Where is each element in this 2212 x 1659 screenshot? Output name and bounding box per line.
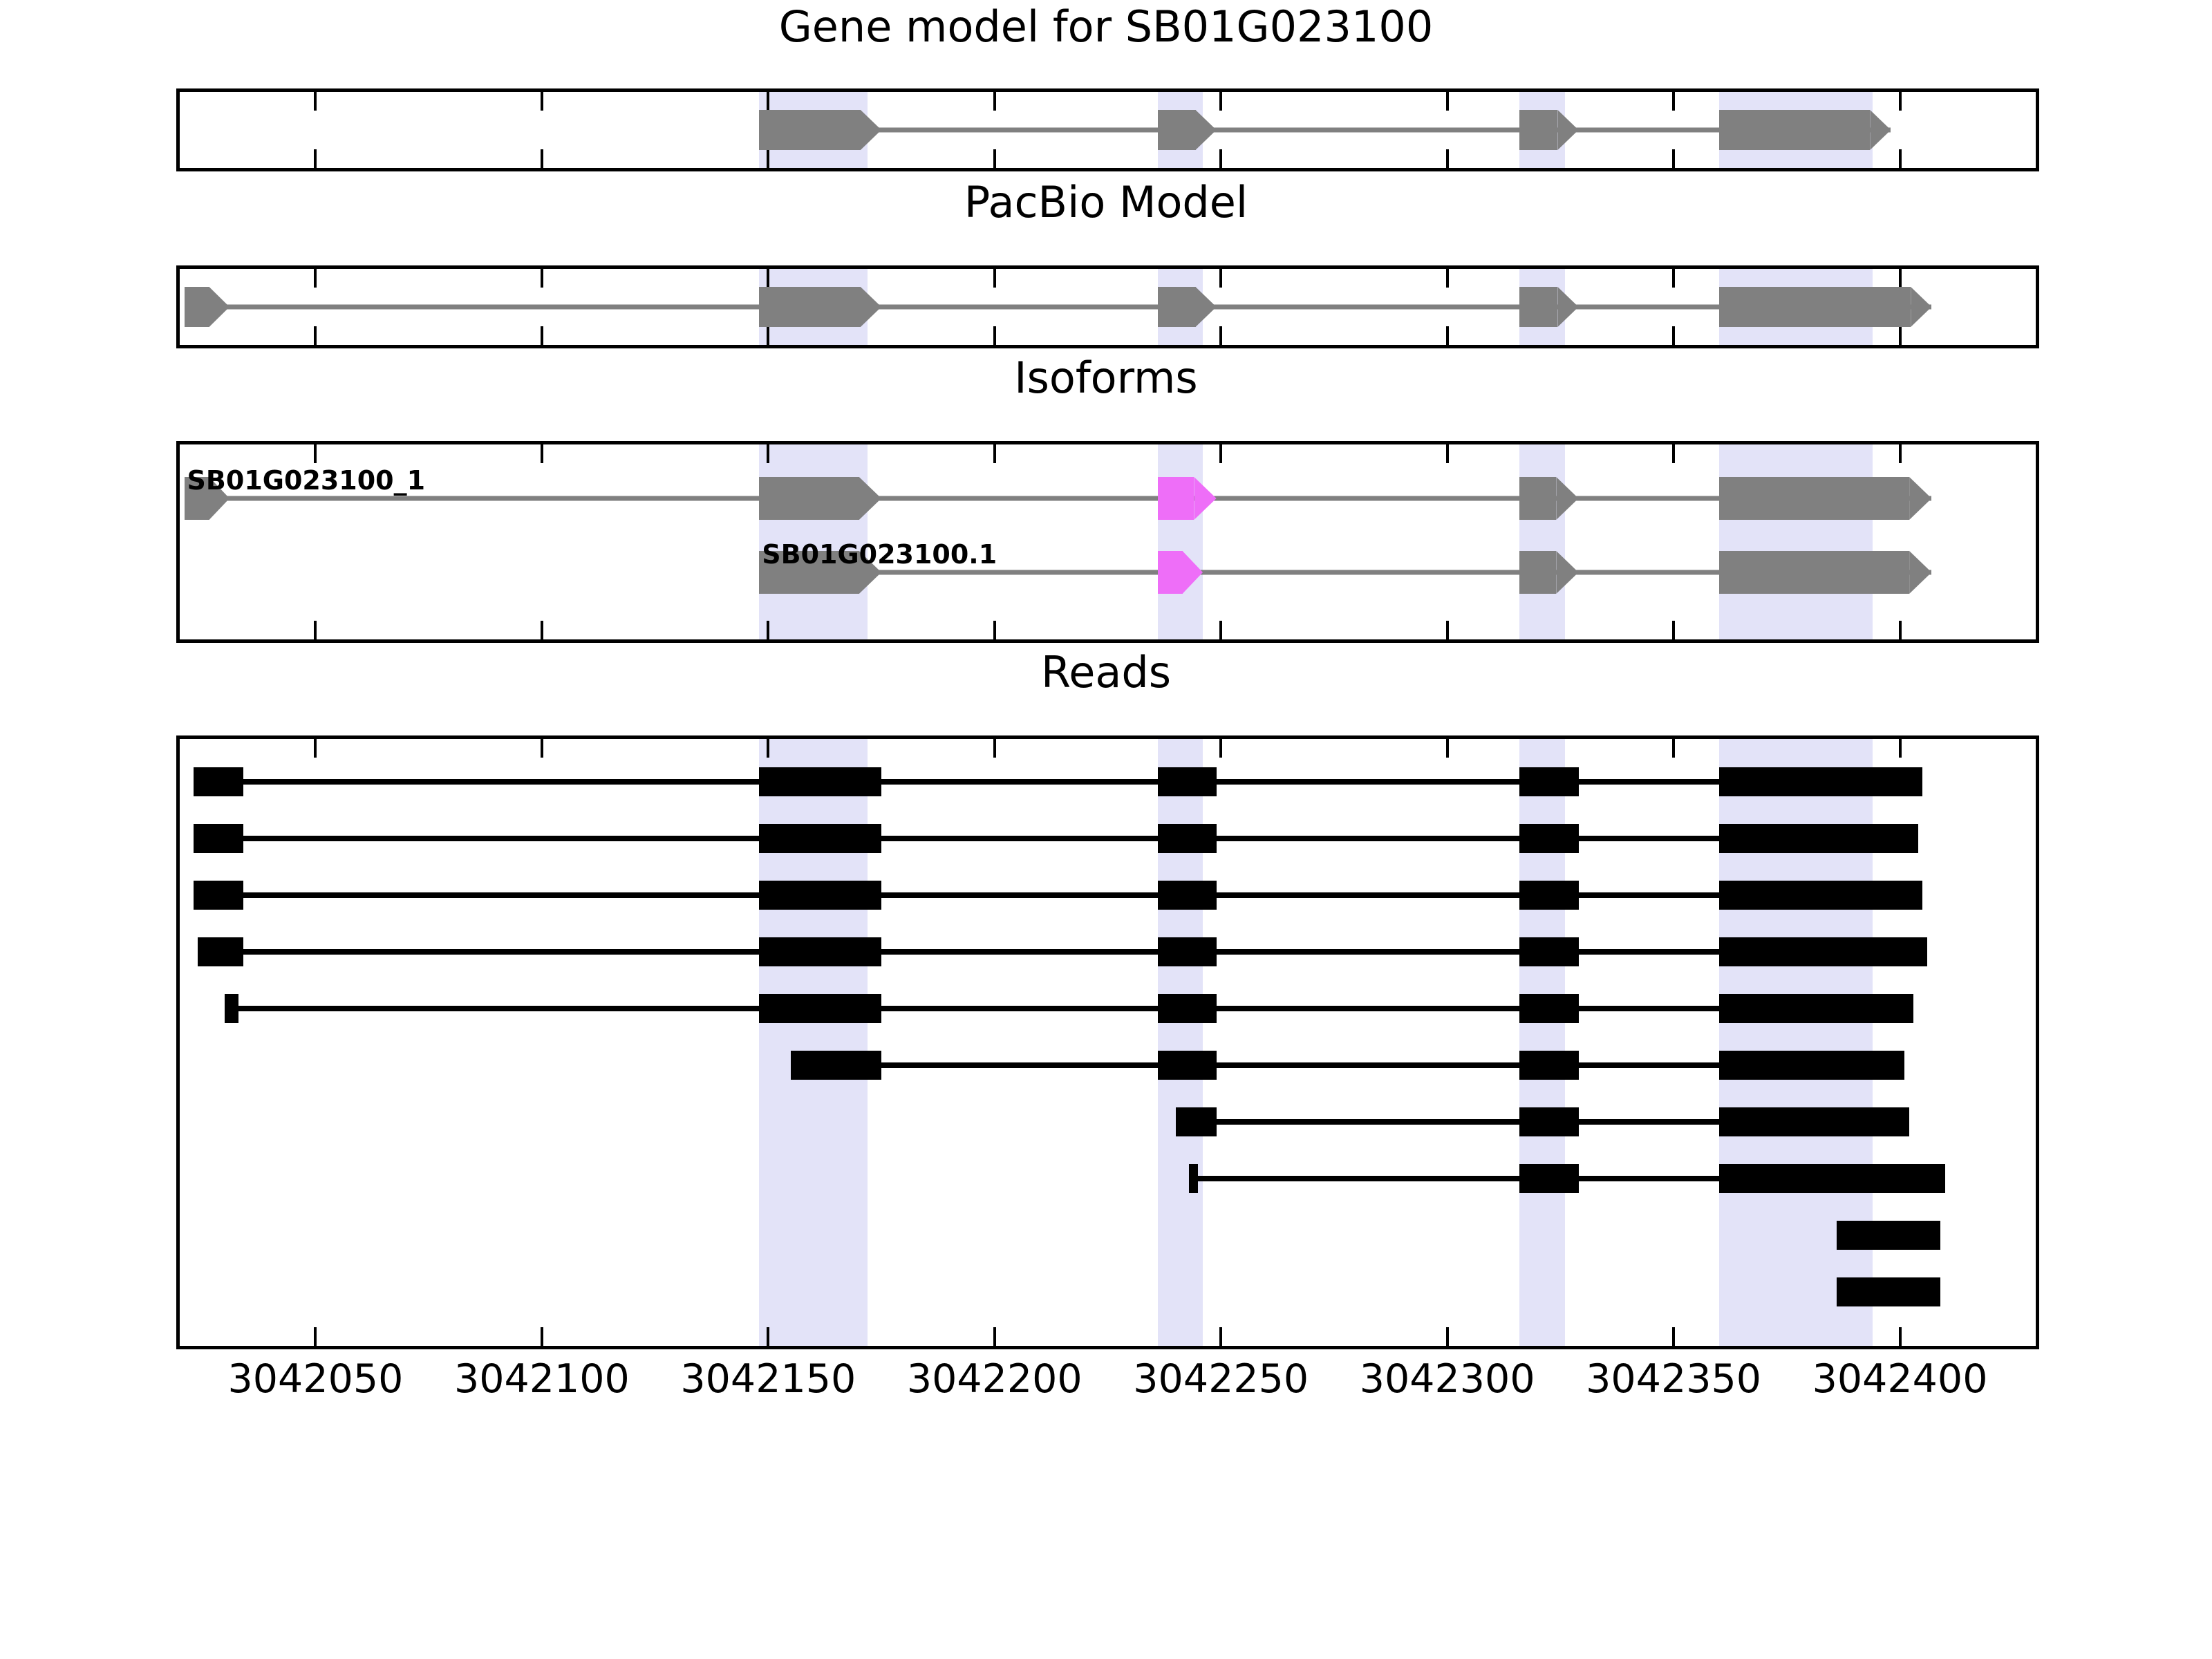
isoform-2-exon-body (1719, 551, 1910, 594)
read-2-block-2 (759, 824, 881, 853)
read-7-block-1 (1176, 1107, 1217, 1136)
read-3-block-4 (1519, 881, 1578, 910)
pacbio-model-exon-arrowhead (1196, 287, 1217, 327)
pacbio-model-intron-line (185, 305, 1932, 310)
x-axis-tick-5 (1446, 1327, 1449, 1346)
read-8-block-2 (1519, 1164, 1578, 1193)
read-1-block-1 (194, 767, 243, 796)
read-5-block-4 (1519, 994, 1578, 1023)
x-axis-tick-0 (314, 621, 317, 639)
isoform-2-exon-arrowhead (1183, 551, 1203, 594)
read-4-connector (198, 949, 1927, 955)
x-axis-tick-4 (1219, 739, 1222, 758)
x-axis-tick-4 (1219, 1327, 1222, 1346)
pacbio-model-exon-1 (185, 287, 229, 327)
x-axis-tick-1 (541, 1327, 543, 1346)
read-4-block-4 (1519, 937, 1578, 966)
x-axis-tick-1 (541, 444, 543, 463)
x-axis-tick-7 (1899, 1327, 1902, 1346)
isoform-1-exon-3 (1158, 477, 1217, 520)
isoform-2-exon-4 (1719, 551, 1932, 594)
read-6-block-2 (1158, 1051, 1217, 1080)
read-6-block-3 (1519, 1051, 1578, 1080)
x-axis-tick-3 (993, 621, 996, 639)
x-axis-tick-2 (767, 149, 769, 168)
x-axis-tick-1 (541, 269, 543, 288)
x-axis-tick-5 (1446, 739, 1449, 758)
x-axis-label-7: 3042400 (1812, 1356, 1988, 1402)
gene-model-exon-arrowhead (1557, 110, 1578, 150)
read-1-block-4 (1519, 767, 1578, 796)
gene-model-exon-3 (1519, 110, 1578, 150)
read-6-block-1 (791, 1051, 881, 1080)
x-axis-tick-3 (993, 444, 996, 463)
x-axis-label-5: 3042300 (1360, 1356, 1535, 1402)
gene-model-exon-body (1158, 110, 1196, 150)
x-axis-tick-6 (1672, 326, 1675, 345)
isoform-label-2: SB01G023100.1 (762, 539, 997, 570)
x-axis-tick-0 (314, 739, 317, 758)
x-axis-tick-2 (767, 621, 769, 639)
isoform-label-1: SB01G023100_1 (187, 465, 426, 496)
read-7-block-2 (1519, 1107, 1578, 1136)
read-4-block-3 (1158, 937, 1217, 966)
isoform-2-exon-arrowhead (1556, 551, 1578, 594)
x-axis-tick-6 (1672, 149, 1675, 168)
x-axis-tick-1 (541, 92, 543, 111)
read-8-block-1 (1189, 1164, 1198, 1193)
isoform-2-exon-arrowhead (1909, 551, 1931, 594)
read-8-block-3 (1719, 1164, 1945, 1193)
gene-model-title: Gene model for SB01G023100 (0, 6, 2212, 48)
read-9-block-1 (1837, 1221, 1941, 1250)
isoforms-title: Isoforms (0, 357, 2212, 400)
x-axis-tick-4 (1219, 326, 1222, 345)
x-axis-tick-7 (1899, 149, 1902, 168)
x-axis-tick-4 (1219, 444, 1222, 463)
x-axis-label-0: 3042050 (228, 1356, 404, 1402)
x-axis-tick-6 (1672, 1327, 1675, 1346)
x-axis-tick-1 (541, 326, 543, 345)
pacbio-model-title: PacBio Model (0, 181, 2212, 224)
read-10-block-1 (1837, 1277, 1941, 1306)
pacbio-model-panel (176, 265, 2039, 348)
x-axis-tick-2 (767, 1327, 769, 1346)
x-axis-tick-1 (541, 149, 543, 168)
gene-model-exon-4 (1719, 110, 1891, 150)
read-5-block-1 (225, 994, 238, 1023)
x-axis-tick-0 (314, 444, 317, 463)
reads-plot-area (180, 739, 2036, 1346)
read-2-block-5 (1719, 824, 1918, 853)
x-axis-tick-0 (314, 1327, 317, 1346)
x-axis-tick-7 (1899, 621, 1902, 639)
x-axis-tick-3 (993, 1327, 996, 1346)
x-axis-tick-5 (1446, 269, 1449, 288)
read-4-block-1 (198, 937, 243, 966)
isoform-1-exon-body (1719, 477, 1910, 520)
read-7-block-3 (1719, 1107, 1909, 1136)
pacbio-model-exon-body (185, 287, 209, 327)
isoform-1-exon-arrowhead (1556, 477, 1578, 520)
x-axis-tick-1 (541, 739, 543, 758)
isoform-1-exon-5 (1719, 477, 1932, 520)
isoform-1-exon-2 (759, 477, 881, 520)
x-axis-tick-5 (1446, 149, 1449, 168)
exon-band-2 (1158, 444, 1203, 639)
gene-model-exon-arrowhead (861, 110, 881, 150)
read-2-block-3 (1158, 824, 1217, 853)
x-axis-tick-6 (1672, 92, 1675, 111)
pacbio-model-exon-body (759, 287, 861, 327)
isoform-1-exon-body (759, 477, 859, 520)
reads-title: Reads (0, 651, 2212, 694)
pacbio-model-exon-2 (759, 287, 881, 327)
gene-model-exon-1 (759, 110, 881, 150)
isoform-1-exon-body (1519, 477, 1556, 520)
x-axis-tick-3 (993, 149, 996, 168)
gene-model-exon-body (1519, 110, 1557, 150)
isoform-1-intron-line (185, 496, 1932, 501)
isoform-1-exon-arrowhead (1194, 477, 1216, 520)
x-axis-tick-0 (314, 149, 317, 168)
pacbio-model-exon-arrowhead (1911, 287, 1931, 327)
read-3-connector (194, 892, 1923, 898)
gene-model-exon-arrowhead (1196, 110, 1217, 150)
gene-model-panel (176, 88, 2039, 171)
isoforms-plot-area: SB01G023100_1SB01G023100.1 (180, 444, 2036, 639)
x-axis-tick-6 (1672, 444, 1675, 463)
isoforms-panel: SB01G023100_1SB01G023100.1 (176, 441, 2039, 643)
x-axis-tick-7 (1899, 326, 1902, 345)
isoform-2-exon-body (1158, 551, 1183, 594)
x-axis-tick-5 (1446, 444, 1449, 463)
x-axis-tick-0 (314, 326, 317, 345)
x-axis-tick-7 (1899, 92, 1902, 111)
isoform-2-exon-2 (1158, 551, 1203, 594)
x-axis-tick-2 (767, 739, 769, 758)
read-5-block-2 (759, 994, 881, 1023)
x-axis-tick-4 (1219, 92, 1222, 111)
read-6-block-4 (1719, 1051, 1905, 1080)
pacbio-model-exon-arrowhead (209, 287, 229, 327)
read-3-block-5 (1719, 881, 1923, 910)
gene-model-plot-area (180, 92, 2036, 168)
x-axis-label-6: 3042350 (1586, 1356, 1761, 1402)
gene-model-exon-arrowhead (1870, 110, 1891, 150)
read-3-block-1 (194, 881, 243, 910)
x-axis-label-1: 3042100 (454, 1356, 630, 1402)
x-axis-tick-5 (1446, 621, 1449, 639)
pacbio-model-plot-area (180, 269, 2036, 345)
x-axis-tick-7 (1899, 269, 1902, 288)
x-axis-tick-2 (767, 269, 769, 288)
pacbio-model-exon-body (1519, 287, 1557, 327)
x-axis-tick-5 (1446, 326, 1449, 345)
isoform-1-exon-arrowhead (859, 477, 881, 520)
x-axis-label-3: 3042200 (907, 1356, 1082, 1402)
x-axis-tick-7 (1899, 444, 1902, 463)
gene-model-exon-body (1719, 110, 1871, 150)
x-axis-tick-3 (993, 739, 996, 758)
x-axis-tick-3 (993, 92, 996, 111)
reads-panel (176, 735, 2039, 1349)
isoform-1-exon-arrowhead (1909, 477, 1931, 520)
gene-model-exon-2 (1158, 110, 1217, 150)
x-axis-tick-6 (1672, 739, 1675, 758)
x-axis-tick-4 (1219, 621, 1222, 639)
exon-band-3 (1519, 444, 1564, 639)
x-axis-tick-6 (1672, 269, 1675, 288)
figure-canvas: Gene model for SB01G023100 PacBio Model … (0, 0, 2212, 1659)
isoform-2-exon-3 (1519, 551, 1578, 594)
x-axis-tick-2 (767, 92, 769, 111)
read-1-block-3 (1158, 767, 1217, 796)
x-axis-tick-3 (993, 326, 996, 345)
x-axis-tick-2 (767, 444, 769, 463)
read-1-connector (194, 779, 1923, 785)
x-axis-tick-0 (314, 269, 317, 288)
read-5-connector (225, 1006, 1913, 1011)
read-2-block-1 (194, 824, 243, 853)
x-axis-tick-7 (1899, 739, 1902, 758)
gene-model-exon-body (759, 110, 861, 150)
read-4-block-5 (1719, 937, 1927, 966)
read-3-block-2 (759, 881, 881, 910)
pacbio-model-exon-arrowhead (861, 287, 881, 327)
read-3-block-3 (1158, 881, 1217, 910)
exon-band-4 (1719, 444, 1873, 639)
isoform-2-exon-body (1519, 551, 1556, 594)
isoform-1-exon-4 (1519, 477, 1578, 520)
x-axis-label-4: 3042250 (1133, 1356, 1309, 1402)
read-4-block-2 (759, 937, 881, 966)
pacbio-model-exon-4 (1519, 287, 1578, 327)
x-axis-tick-1 (541, 621, 543, 639)
x-axis-label-2: 3042150 (680, 1356, 856, 1402)
read-1-block-5 (1719, 767, 1923, 796)
read-1-block-2 (759, 767, 881, 796)
x-axis-tick-6 (1672, 621, 1675, 639)
x-axis-tick-0 (314, 92, 317, 111)
pacbio-model-exon-body (1158, 287, 1196, 327)
pacbio-model-exon-body (1719, 287, 1911, 327)
pacbio-model-exon-3 (1158, 287, 1217, 327)
read-5-block-5 (1719, 994, 1914, 1023)
x-axis-tick-3 (993, 269, 996, 288)
x-axis-tick-2 (767, 326, 769, 345)
x-axis-tick-labels: 3042050304210030421503042200304225030423… (0, 1356, 2212, 1412)
pacbio-model-exon-5 (1719, 287, 1932, 327)
read-5-block-3 (1158, 994, 1217, 1023)
x-axis-tick-4 (1219, 269, 1222, 288)
read-2-block-4 (1519, 824, 1578, 853)
pacbio-model-exon-arrowhead (1557, 287, 1578, 327)
read-2-connector (194, 836, 1918, 841)
x-axis-tick-5 (1446, 92, 1449, 111)
x-axis-tick-4 (1219, 149, 1222, 168)
isoform-1-exon-body (1158, 477, 1194, 520)
